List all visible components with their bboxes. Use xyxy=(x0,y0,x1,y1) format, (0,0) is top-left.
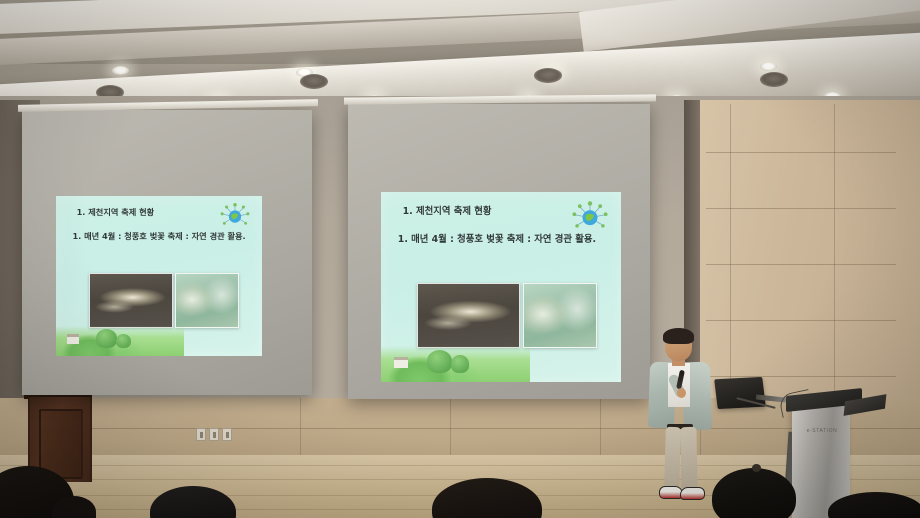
ceiling-speaker-icon xyxy=(534,68,562,83)
globe-eco-logo-icon xyxy=(218,202,252,230)
slide-left: 1. 제천지역 축제 현황 1. 매년 4월 : 청풍호 벚꽃 축제 : 자연 … xyxy=(56,196,262,356)
ceiling-speaker-icon xyxy=(760,72,788,87)
sneaker-right xyxy=(680,487,705,500)
light-switch[interactable] xyxy=(222,428,232,441)
audience-hair-tuft xyxy=(752,464,761,472)
presenter-speaker xyxy=(645,330,715,505)
photo-night-cherry-blossom-road xyxy=(417,283,520,348)
globe-eco-logo-icon xyxy=(569,200,611,234)
hut-shape xyxy=(67,334,78,344)
photo-daytime-cherry-blossom xyxy=(175,273,239,328)
downlight-icon xyxy=(112,66,129,75)
presenter-hair xyxy=(663,328,694,344)
slide-body: 1. 매년 4월 : 청풍호 벚꽃 축제 : 자연 경관 활용. xyxy=(72,231,253,241)
trouser-right xyxy=(680,427,697,489)
tree-shape xyxy=(96,329,118,348)
light-switch[interactable] xyxy=(196,428,206,441)
slide-grass-decoration xyxy=(381,346,530,382)
photo-night-cherry-blossom-road xyxy=(89,273,173,328)
hut-shape xyxy=(394,357,407,368)
ceiling-speaker-icon xyxy=(300,74,328,89)
tree-shape xyxy=(451,355,469,372)
slide-body: 1. 매년 4월 : 청풍호 벚꽃 축제 : 자연 경관 활용. xyxy=(398,234,614,245)
trouser-left xyxy=(664,427,681,489)
slide-title: 1. 제천지역 축제 현황 xyxy=(77,206,155,218)
tree-shape xyxy=(427,350,452,372)
wall-switch-panel[interactable] xyxy=(196,428,232,441)
downlight-icon xyxy=(760,62,777,71)
lecture-hall-photo: 1. 제천지역 축제 현황 1. 매년 4월 : 청풍호 벚꽃 축제 : 자연 … xyxy=(0,0,920,518)
slide-right: 1. 제천지역 축제 현황 1. 매년 4월 : 청풍호 벚꽃 축제 : 자연 … xyxy=(381,192,621,382)
slide-title: 1. 제천지역 축제 현황 xyxy=(403,203,492,217)
photo-daytime-cherry-blossom xyxy=(523,283,597,348)
presenter-hand xyxy=(677,388,686,398)
tree-shape xyxy=(116,334,131,349)
light-switch[interactable] xyxy=(209,428,219,441)
slide-grass-decoration xyxy=(56,326,184,356)
podium-brand-label: e-STATION xyxy=(798,428,846,434)
